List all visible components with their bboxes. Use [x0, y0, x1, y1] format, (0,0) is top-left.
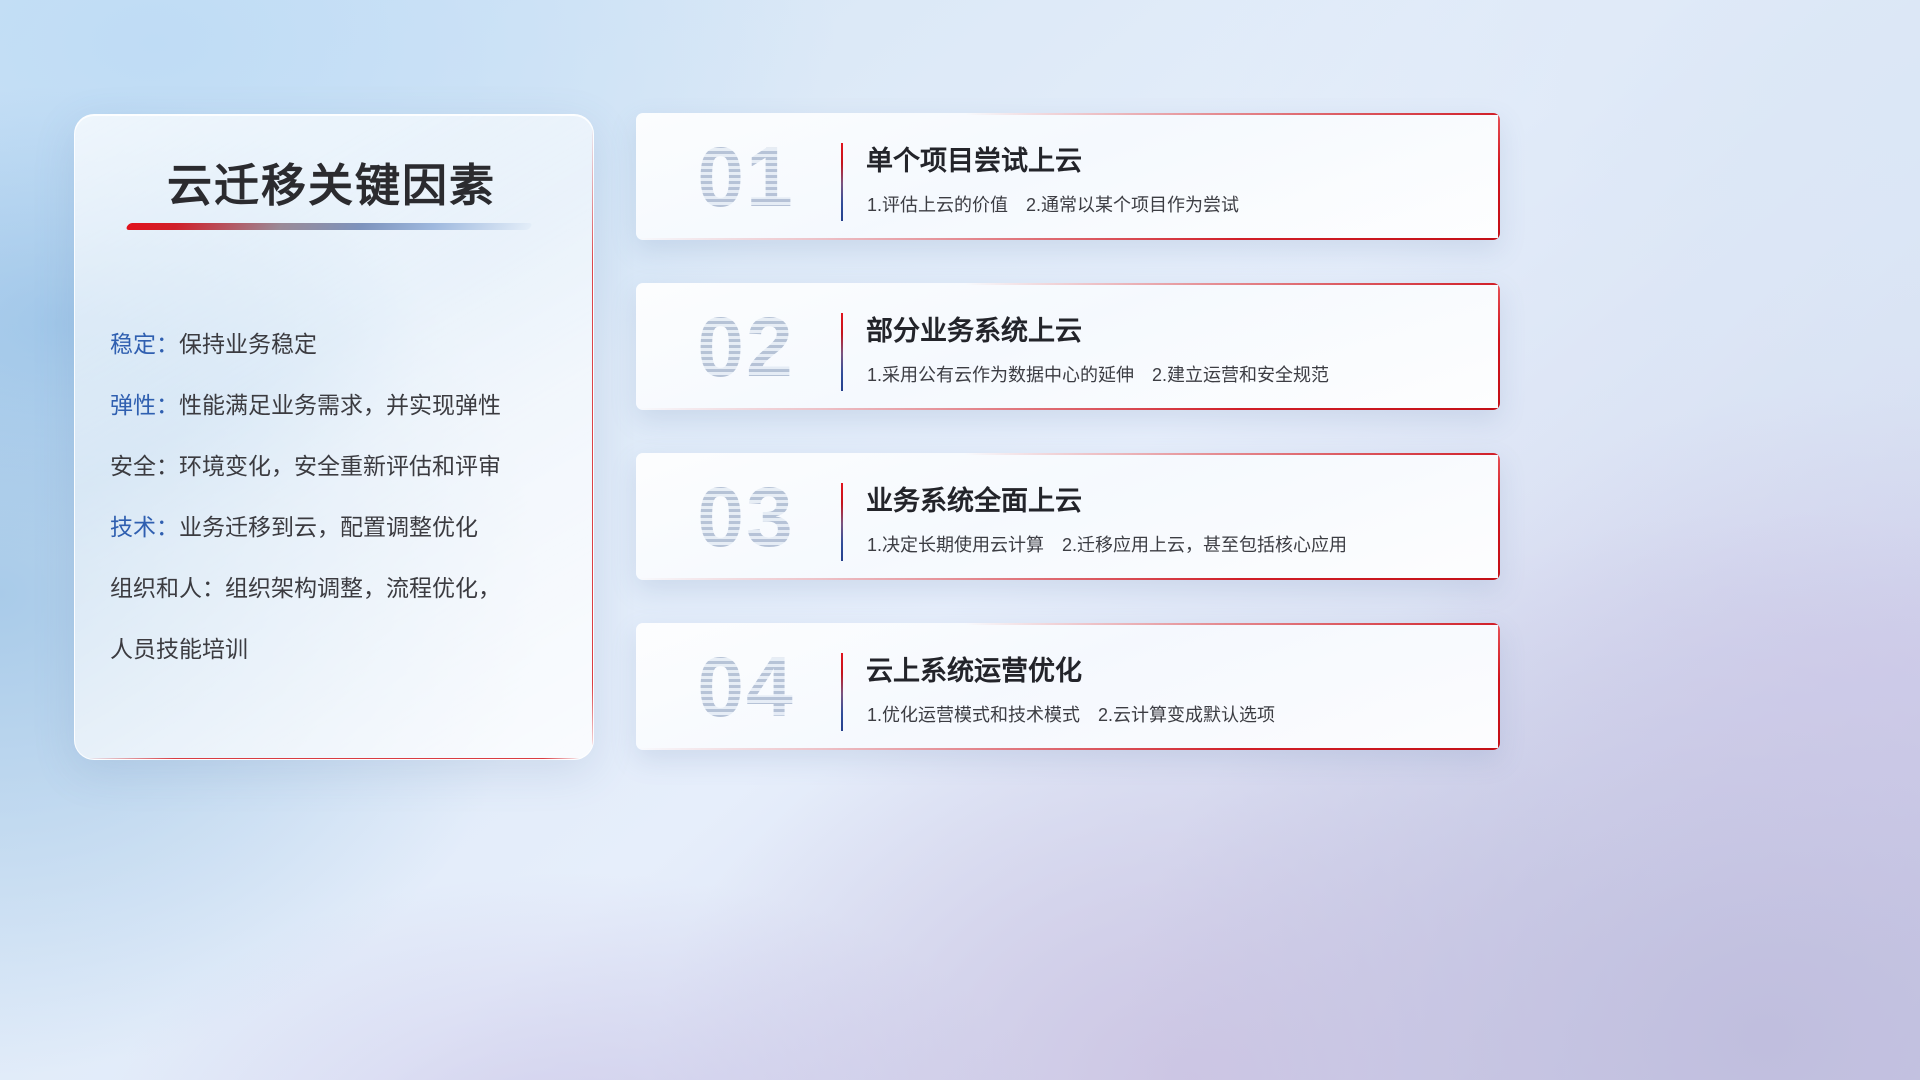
- list-item: 安全： 环境变化，安全重新评估和评审: [110, 433, 573, 494]
- stage-card[interactable]: 02 02 部分业务系统上云 1.采用公有云作为数据中心的延伸 2.建立运营和安…: [636, 283, 1500, 410]
- list-item-value: 保持业务稳定: [179, 325, 317, 359]
- card-top-edge: [636, 113, 1500, 115]
- card-accent-divider: [841, 653, 843, 731]
- card-top-edge: [636, 453, 1500, 455]
- key-factors-list: 稳定： 保持业务稳定 弹性： 性能满足业务需求，并实现弹性 安全： 环境变化，安…: [110, 311, 573, 677]
- stage-card-title: 部分业务系统上云: [866, 309, 1082, 348]
- list-item: 组织和人： 组织架构调整，流程优化，: [110, 555, 573, 616]
- stage-card[interactable]: 01 01 单个项目尝试上云 1.评估上云的价值 2.通常以某个项目作为尝试: [636, 113, 1500, 240]
- stage-card-description: 1.采用公有云作为数据中心的延伸 2.建立运营和安全规范: [867, 361, 1329, 387]
- stage-card[interactable]: 04 04 云上系统运营优化 1.优化运营模式和技术模式 2.云计算变成默认选项: [636, 623, 1500, 750]
- stage-number-striped: 04: [666, 637, 826, 737]
- card-top-edge: [636, 283, 1500, 285]
- stage-card[interactable]: 03 03 业务系统全面上云 1.决定长期使用云计算 2.迁移应用上云，甚至包括…: [636, 453, 1500, 580]
- list-item: 技术： 业务迁移到云，配置调整优化: [110, 494, 573, 555]
- list-item-continuation: 人员技能培训: [110, 616, 573, 677]
- card-accent-divider: [841, 313, 843, 391]
- list-item-value: 性能满足业务需求，并实现弹性: [179, 386, 501, 420]
- list-item-value: 组织架构调整，流程优化，: [225, 569, 501, 603]
- stage-card-description: 1.优化运营模式和技术模式 2.云计算变成默认选项: [867, 701, 1275, 727]
- list-item-value: 人员技能培训: [110, 630, 248, 664]
- list-item: 稳定： 保持业务稳定: [110, 311, 573, 372]
- stage-number-striped: 03: [666, 467, 826, 567]
- card-accent-divider: [841, 143, 843, 221]
- list-item-value: 环境变化，安全重新评估和评审: [179, 447, 501, 481]
- key-factors-panel: 云迁移关键因素 稳定： 保持业务稳定 弹性： 性能满足业务需求，并实现弹性 安全…: [74, 114, 594, 760]
- title-underline-gradient: [125, 223, 532, 230]
- stage-card-title: 云上系统运营优化: [866, 649, 1082, 688]
- stage-number-striped: 02: [666, 297, 826, 397]
- list-item-value: 业务迁移到云，配置调整优化: [179, 508, 478, 542]
- list-item-key: 技术：: [110, 508, 179, 542]
- card-top-edge: [636, 623, 1500, 625]
- stage-card-description: 1.评估上云的价值 2.通常以某个项目作为尝试: [867, 191, 1239, 217]
- list-item-key: 弹性：: [110, 386, 179, 420]
- list-item-key: 稳定：: [110, 325, 179, 359]
- stage-card-description: 1.决定长期使用云计算 2.迁移应用上云，甚至包括核心应用: [867, 531, 1347, 557]
- list-item-key: 安全：: [110, 447, 179, 481]
- list-item-key: 组织和人：: [110, 569, 225, 603]
- page-title: 云迁移关键因素: [167, 149, 496, 214]
- list-item: 弹性： 性能满足业务需求，并实现弹性: [110, 372, 573, 433]
- stage-card-title: 单个项目尝试上云: [866, 139, 1082, 178]
- stage-card-title: 业务系统全面上云: [866, 479, 1082, 518]
- migration-stage-cards: 01 01 单个项目尝试上云 1.评估上云的价值 2.通常以某个项目作为尝试 0…: [636, 113, 1500, 793]
- card-accent-divider: [841, 483, 843, 561]
- stage-number-striped: 01: [666, 127, 826, 227]
